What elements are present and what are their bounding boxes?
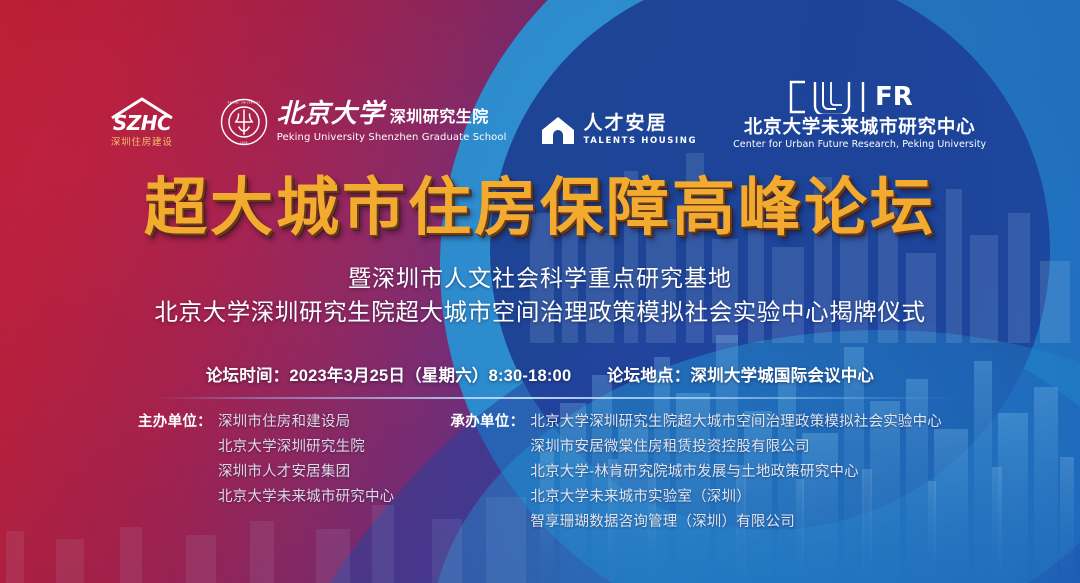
host-organizers-block: 主办单位： 深圳市住房和建设局 北京大学深圳研究生院 深圳市人才安居集团 北京大… bbox=[138, 410, 394, 535]
szhc-chinese-label: 深圳住房建设 bbox=[111, 138, 173, 148]
list-item: 深圳市住房和建设局 bbox=[218, 410, 394, 435]
logo-peking-university: PEKING UNIVERSITY 1898 北京大学 深圳研究生院 Pekin… bbox=[220, 98, 507, 152]
coorganizers-block: 承办单位： 北京大学深圳研究生院超大城市空间治理政策模拟社会实验中心 深圳市安居… bbox=[450, 410, 942, 535]
subtitle-line-1: 暨深圳市人文社会科学重点研究基地 bbox=[0, 262, 1080, 295]
peking-university-english: Peking University Shenzhen Graduate Scho… bbox=[277, 132, 507, 143]
sponsor-logo-row: SZHC 深圳住房建设 bbox=[0, 72, 1080, 152]
cufr-chinese: 北京大学未来城市研究中心 bbox=[744, 117, 976, 137]
list-item: 北京大学未来城市实验室（深圳） bbox=[530, 485, 942, 510]
poster-banner: SZHC 深圳住房建设 bbox=[0, 0, 1080, 583]
cufr-english: Center for Urban Future Research, Peking… bbox=[733, 139, 986, 150]
svg-text:SZHC: SZHC bbox=[113, 111, 172, 135]
cufr-monogram-icon: FR bbox=[785, 80, 935, 114]
list-item: 北京大学-林肯研究院城市发展与土地政策研究中心 bbox=[530, 460, 942, 485]
svg-text:PEKING UNIVERSITY: PEKING UNIVERSITY bbox=[227, 100, 260, 104]
peking-university-calligraphy: 北京大学 bbox=[277, 101, 385, 127]
poster-subtitle: 暨深圳市人文社会科学重点研究基地 北京大学深圳研究生院超大城市空间治理政策模拟社… bbox=[0, 262, 1080, 329]
logo-talents-housing: 人才安居 TALENTS HOUSING bbox=[541, 114, 698, 152]
svg-text:FR: FR bbox=[875, 82, 913, 112]
list-item: 深圳市人才安居集团 bbox=[218, 460, 394, 485]
host-organizers-label: 主办单位： bbox=[138, 410, 212, 435]
list-item: 北京大学深圳研究生院 bbox=[218, 435, 394, 460]
forum-meta-line: 论坛时间：2023年3月25日（星期六）8:30-18:00 论坛地点：深圳大学… bbox=[0, 362, 1080, 386]
talents-housing-home-icon bbox=[541, 115, 575, 145]
svg-text:1898: 1898 bbox=[240, 142, 248, 145]
logo-cufr: FR 北京大学未来城市研究中心 Center for Urban Future … bbox=[733, 80, 986, 152]
logo-szhc: SZHC 深圳住房建设 bbox=[94, 96, 190, 152]
talents-housing-chinese: 人才安居 bbox=[584, 114, 698, 134]
forum-place: 论坛地点：深圳大学城国际会议中心 bbox=[607, 367, 874, 385]
coorganizers-label: 承办单位： bbox=[450, 410, 524, 435]
poster-main-title: 超大城市住房保障高峰论坛 bbox=[0, 176, 1080, 239]
subtitle-line-2: 北京大学深圳研究生院超大城市空间治理政策模拟社会实验中心揭牌仪式 bbox=[0, 295, 1080, 329]
talents-housing-english: TALENTS HOUSING bbox=[584, 136, 698, 146]
forum-time: 论坛时间：2023年3月25日（星期六）8:30-18:00 bbox=[206, 367, 571, 385]
peking-university-chinese-sub: 深圳研究生院 bbox=[390, 110, 489, 126]
coorganizers-list: 北京大学深圳研究生院超大城市空间治理政策模拟社会实验中心 深圳市安居微棠住房租赁… bbox=[530, 410, 942, 535]
horizontal-divider bbox=[155, 397, 960, 399]
list-item: 深圳市安居微棠住房租赁投资控股有限公司 bbox=[530, 435, 942, 460]
organizers-section: 主办单位： 深圳市住房和建设局 北京大学深圳研究生院 深圳市人才安居集团 北京大… bbox=[0, 410, 1080, 535]
host-organizers-list: 深圳市住房和建设局 北京大学深圳研究生院 深圳市人才安居集团 北京大学未来城市研… bbox=[218, 410, 394, 510]
peking-university-seal-icon: PEKING UNIVERSITY 1898 bbox=[220, 98, 268, 146]
list-item: 北京大学深圳研究生院超大城市空间治理政策模拟社会实验中心 bbox=[530, 410, 942, 435]
szhc-house-icon: SZHC bbox=[104, 96, 180, 136]
list-item: 智享珊瑚数据咨询管理（深圳）有限公司 bbox=[530, 510, 942, 535]
list-item: 北京大学未来城市研究中心 bbox=[218, 485, 394, 510]
